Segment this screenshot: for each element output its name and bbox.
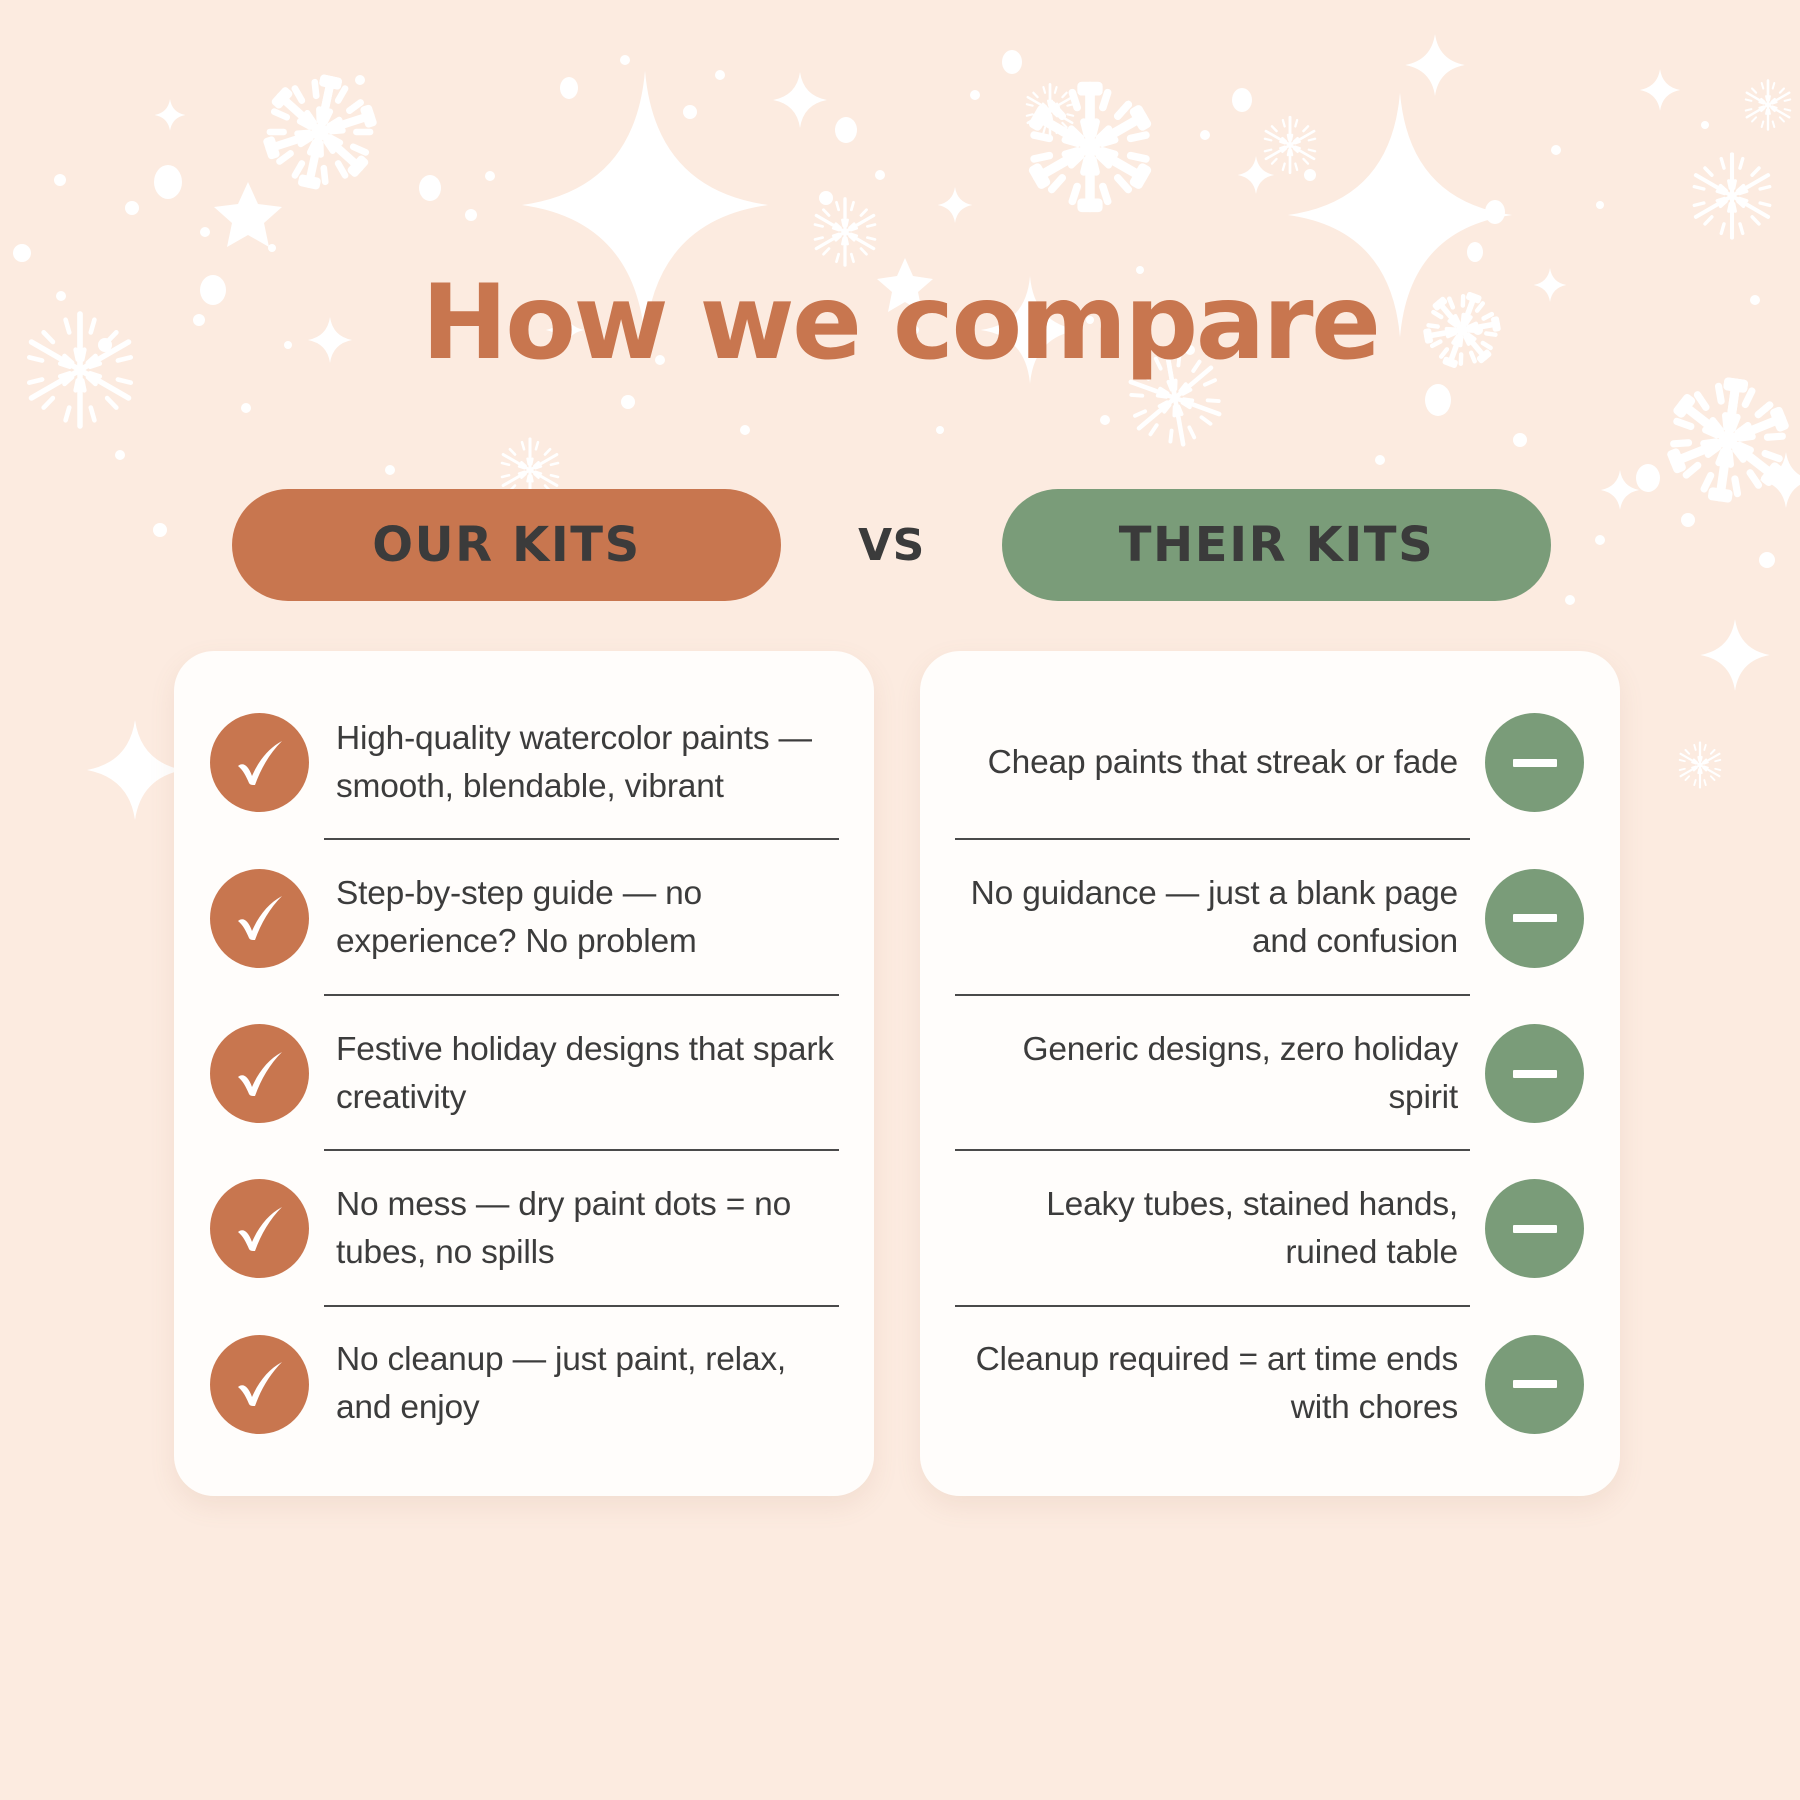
minus-circle-icon [1485, 1335, 1584, 1434]
page-title: How we compare [0, 272, 1800, 375]
list-item-text: Step-by-step guide — no experience? No p… [309, 870, 839, 966]
badge-their-kits[interactable]: THEIR KITS [1002, 489, 1551, 601]
their-kits-list: Cheap paints that streak or fade No guid… [920, 685, 1620, 1462]
list-item: Step-by-step guide — no experience? No p… [174, 840, 874, 995]
list-item: Festive holiday designs that spark creat… [174, 996, 874, 1151]
list-item-text: Leaky tubes, stained hands, ruined table [955, 1181, 1485, 1277]
list-item-text: Cleanup required = art time ends with ch… [955, 1336, 1485, 1432]
list-item: High-quality watercolor paints — smooth,… [174, 685, 874, 840]
list-item-text: Cheap paints that streak or fade [955, 739, 1485, 787]
list-item: Cleanup required = art time ends with ch… [920, 1307, 1620, 1462]
list-item-text: Generic designs, zero holiday spirit [955, 1026, 1485, 1122]
minus-circle-icon [1485, 1179, 1584, 1278]
check-circle-icon [210, 1024, 309, 1123]
card-their-kits: Cheap paints that streak or fade No guid… [920, 651, 1620, 1496]
list-item: No guidance — just a blank page and conf… [920, 840, 1620, 995]
badge-row: OUR KITS VS THEIR KITS [0, 489, 1800, 601]
minus-circle-icon [1485, 1024, 1584, 1123]
vs-label: VS [781, 489, 1002, 601]
list-item-text: Festive holiday designs that spark creat… [309, 1026, 839, 1122]
minus-circle-icon [1485, 869, 1584, 968]
badge-our-kits[interactable]: OUR KITS [232, 489, 781, 601]
check-circle-icon [210, 713, 309, 812]
list-item: Leaky tubes, stained hands, ruined table [920, 1151, 1620, 1306]
list-item-text: No cleanup — just paint, relax, and enjo… [309, 1336, 839, 1432]
list-item: Generic designs, zero holiday spirit [920, 996, 1620, 1151]
list-item-text: No mess — dry paint dots = no tubes, no … [309, 1181, 839, 1277]
minus-circle-icon [1485, 713, 1584, 812]
list-item: No cleanup — just paint, relax, and enjo… [174, 1307, 874, 1462]
check-circle-icon [210, 1335, 309, 1434]
card-our-kits: High-quality watercolor paints — smooth,… [174, 651, 874, 1496]
check-circle-icon [210, 869, 309, 968]
list-item-text: High-quality watercolor paints — smooth,… [309, 715, 839, 811]
our-kits-list: High-quality watercolor paints — smooth,… [174, 685, 874, 1462]
list-item: Cheap paints that streak or fade [920, 685, 1620, 840]
comparison-infographic: How we compare OUR KITS VS THEIR KITS Hi… [0, 0, 1800, 1800]
list-item-text: No guidance — just a blank page and conf… [955, 870, 1485, 966]
list-item: No mess — dry paint dots = no tubes, no … [174, 1151, 874, 1306]
check-circle-icon [210, 1179, 309, 1278]
